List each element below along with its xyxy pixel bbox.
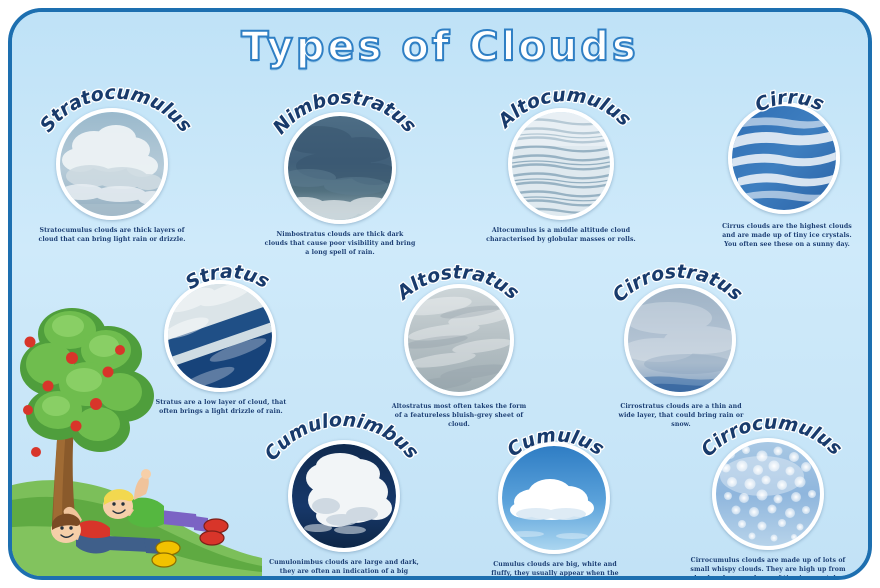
photo-cirrostratus [624,284,736,396]
cloud-caption-cumulonimbus: Cumulonimbus clouds are large and dark, … [268,558,420,580]
cloud-caption-cirrostratus: Cirrostratus clouds are a thin and wide … [612,402,750,429]
poster: Types of Clouds [8,8,872,580]
photo-stratocumulus [56,108,168,220]
cloud-caption-cumulus: Cumulus clouds are big, white and fluffy… [482,560,628,580]
cloud-caption-stratus: Stratus are a low layer of cloud, that o… [154,398,288,416]
photo-cumulus [498,442,610,554]
photo-nimbostratus [284,112,396,224]
photo-cumulonimbus [288,440,400,552]
photo-cirrus [728,102,840,214]
cloud-caption-nimbostratus: Nimbostratus clouds are thick dark cloud… [264,230,416,257]
cloud-caption-altocumulus: Altocumulus is a middle altitude cloud c… [486,226,636,244]
photo-cirrocumulus [712,438,824,550]
photo-altostratus [404,284,514,396]
photo-altocumulus [508,108,614,220]
page-title: Types of Clouds [12,24,868,72]
photo-stratus [164,280,276,392]
cloud-caption-cirrocumulus: Cirrocumulus clouds are made up of lots … [688,556,848,580]
cloud-caption-stratocumulus: Stratocumulus clouds are thick layers of… [34,226,190,244]
cloud-caption-cirrus: Cirrus clouds are the highest clouds and… [716,222,858,249]
cloud-caption-altostratus: Altostratus most often takes the form of… [390,402,528,429]
